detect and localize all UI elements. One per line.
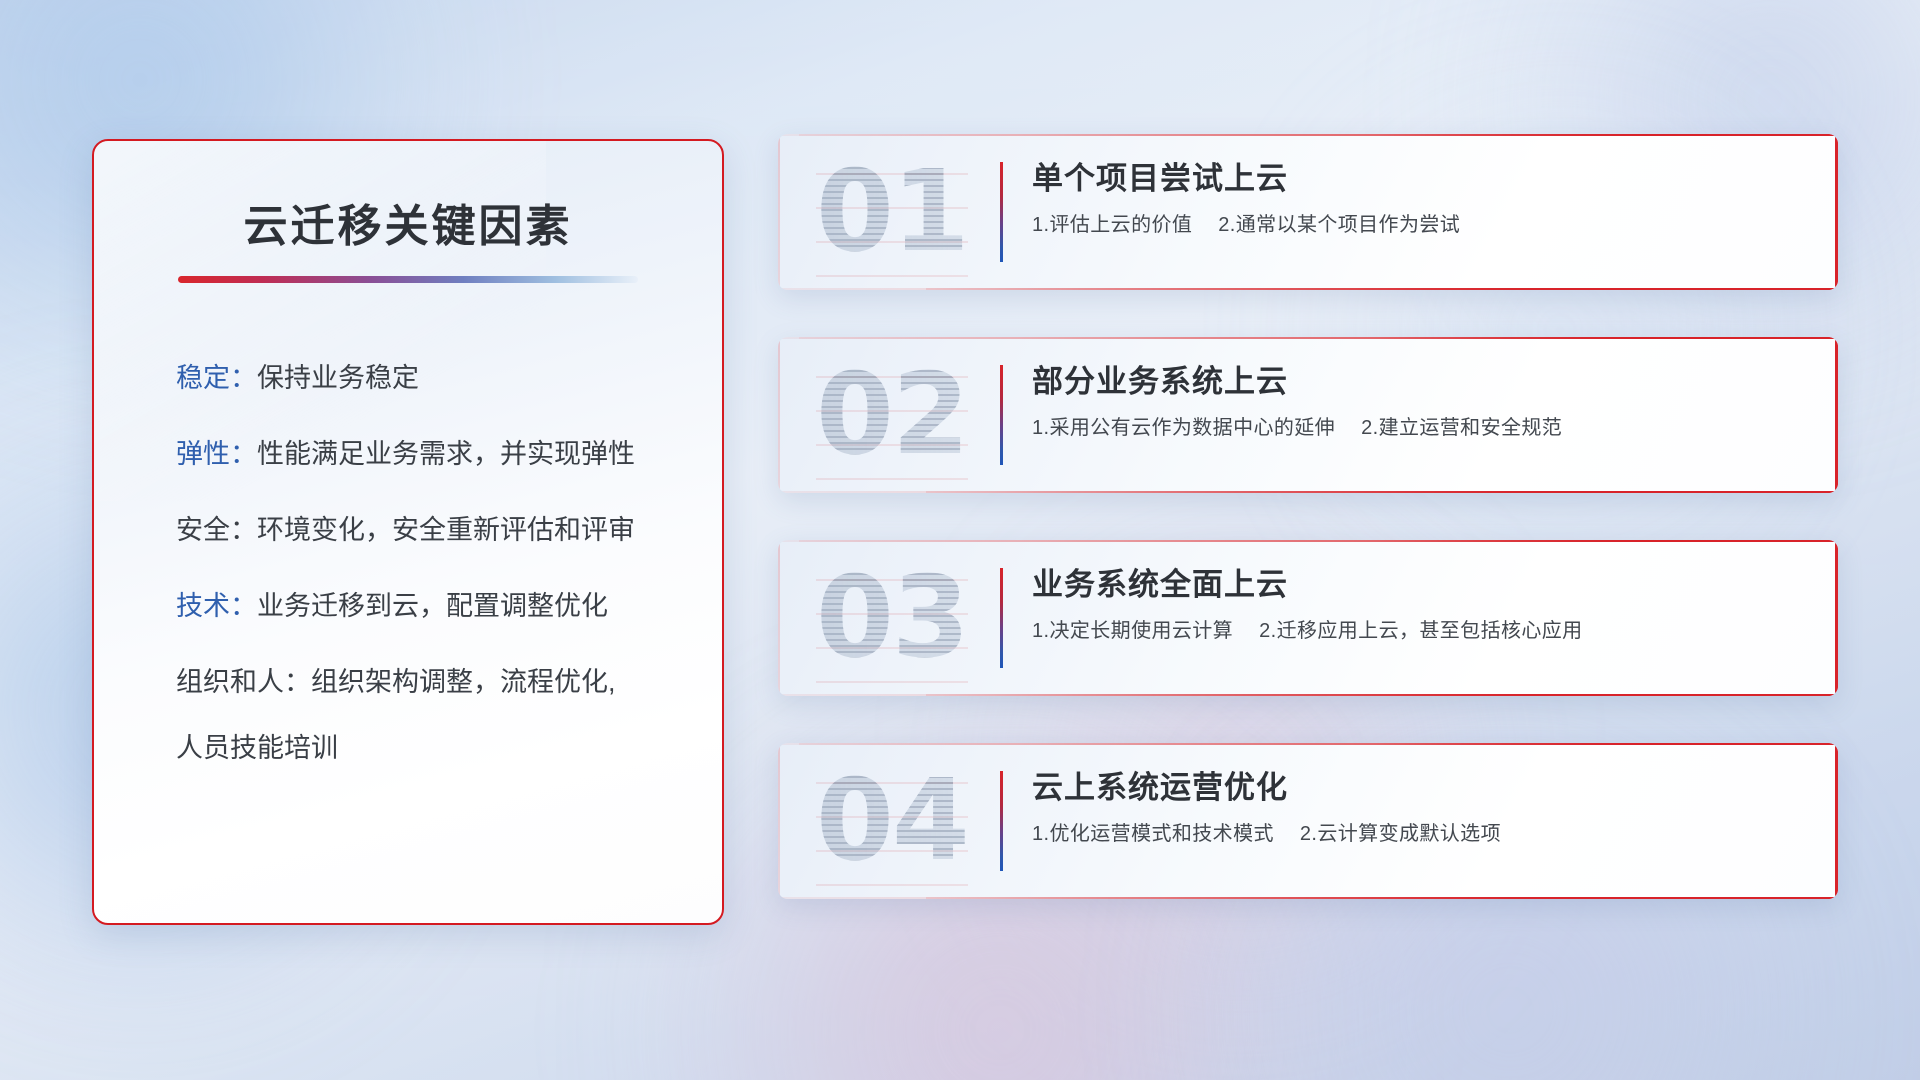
card-subtitle: 1.决定长期使用云计算2.迁移应用上云，甚至包括核心应用	[1032, 618, 1812, 645]
card-body: 部分业务系统上云 1.采用公有云作为数据中心的延伸2.建立运营和安全规范	[1032, 363, 1812, 442]
step-number-graphic: 04	[778, 743, 998, 899]
factor-label: 安全：	[176, 515, 257, 545]
step-number: 02	[816, 350, 968, 480]
card-edge-right	[1835, 134, 1838, 290]
card-subtitle: 1.优化运营模式和技术模式2.云计算变成默认选项	[1032, 821, 1812, 848]
factor-value-continuation: 人员技能培训	[176, 727, 668, 769]
factor-value: 保持业务稳定	[257, 363, 419, 393]
card-subtitle: 1.评估上云的价值2.通常以某个项目作为尝试	[1032, 212, 1812, 239]
card-title: 部分业务系统上云	[1032, 363, 1812, 402]
step-card[interactable]: 04 云上系统运营优化 1.优化运营模式和技术模式2.云计算变成默认选项	[778, 743, 1838, 899]
card-subtitle-part-2: 2.迁移应用上云，甚至包括核心应用	[1259, 620, 1582, 642]
card-subtitle-part-2: 2.建立运营和安全规范	[1361, 417, 1562, 439]
factor-label: 弹性：	[176, 439, 257, 469]
factor-value: 环境变化，安全重新评估和评审	[257, 515, 635, 545]
card-subtitle-part-1: 1.采用公有云作为数据中心的延伸	[1032, 417, 1335, 439]
card-edge-bottom	[926, 694, 1838, 697]
factor-label: 技术：	[176, 591, 257, 621]
card-body: 云上系统运营优化 1.优化运营模式和技术模式2.云计算变成默认选项	[1032, 769, 1812, 848]
step-card[interactable]: 01 单个项目尝试上云 1.评估上云的价值2.通常以某个项目作为尝试	[778, 134, 1838, 290]
page-title: 云迁移关键因素	[148, 201, 668, 254]
card-divider-bar	[1000, 771, 1003, 871]
factor-value: 性能满足业务需求，并实现弹性	[257, 439, 635, 469]
factor-value: 业务迁移到云，配置调整优化	[257, 591, 608, 621]
factor-list: 稳定：保持业务稳定 弹性：性能满足业务需求，并实现弹性 安全：环境变化，安全重新…	[148, 357, 668, 770]
factor-row: 组织和人：组织架构调整，流程优化,	[176, 661, 668, 703]
card-edge-bottom	[926, 491, 1838, 494]
factor-value: 组织架构调整，流程优化,	[311, 667, 616, 697]
card-divider-bar	[1000, 365, 1003, 465]
card-subtitle-part-2: 2.通常以某个项目作为尝试	[1218, 214, 1460, 236]
factor-row: 稳定：保持业务稳定	[176, 357, 668, 399]
step-card-list: 01 单个项目尝试上云 1.评估上云的价值2.通常以某个项目作为尝试 02 部分…	[778, 134, 1838, 899]
card-edge-right	[1835, 337, 1838, 493]
step-number: 03	[816, 553, 968, 683]
key-factors-panel: 云迁移关键因素 稳定：保持业务稳定 弹性：性能满足业务需求，并实现弹性 安全：环…	[92, 139, 724, 925]
card-divider-bar	[1000, 568, 1003, 668]
card-edge-right	[1835, 540, 1838, 696]
card-subtitle-part-1: 1.优化运营模式和技术模式	[1032, 823, 1274, 845]
card-title: 单个项目尝试上云	[1032, 160, 1812, 199]
card-edge-bottom	[926, 897, 1838, 900]
card-subtitle-part-2: 2.云计算变成默认选项	[1300, 823, 1501, 845]
card-edge-bottom	[926, 288, 1838, 291]
card-subtitle-part-1: 1.决定长期使用云计算	[1032, 620, 1233, 642]
factor-row: 弹性：性能满足业务需求，并实现弹性	[176, 433, 668, 475]
card-title: 业务系统全面上云	[1032, 566, 1812, 605]
card-edge-right	[1835, 743, 1838, 899]
card-divider-bar	[1000, 162, 1003, 262]
step-number-graphic: 02	[778, 337, 998, 493]
step-card[interactable]: 03 业务系统全面上云 1.决定长期使用云计算2.迁移应用上云，甚至包括核心应用	[778, 540, 1838, 696]
card-subtitle: 1.采用公有云作为数据中心的延伸2.建立运营和安全规范	[1032, 415, 1812, 442]
step-number-graphic: 03	[778, 540, 998, 696]
step-number: 04	[816, 756, 968, 886]
factor-row: 安全：环境变化，安全重新评估和评审	[176, 509, 668, 551]
factor-label: 组织和人：	[176, 667, 311, 697]
factor-label: 稳定：	[176, 363, 257, 393]
step-number-graphic: 01	[778, 134, 998, 290]
step-card[interactable]: 02 部分业务系统上云 1.采用公有云作为数据中心的延伸2.建立运营和安全规范	[778, 337, 1838, 493]
slide-stage: 云迁移关键因素 稳定：保持业务稳定 弹性：性能满足业务需求，并实现弹性 安全：环…	[0, 0, 1920, 1080]
title-underline-rule	[178, 276, 638, 283]
card-subtitle-part-1: 1.评估上云的价值	[1032, 214, 1192, 236]
card-title: 云上系统运营优化	[1032, 769, 1812, 808]
step-number: 01	[816, 147, 968, 277]
card-body: 业务系统全面上云 1.决定长期使用云计算2.迁移应用上云，甚至包括核心应用	[1032, 566, 1812, 645]
card-body: 单个项目尝试上云 1.评估上云的价值2.通常以某个项目作为尝试	[1032, 160, 1812, 239]
factor-row: 技术：业务迁移到云，配置调整优化	[176, 585, 668, 627]
